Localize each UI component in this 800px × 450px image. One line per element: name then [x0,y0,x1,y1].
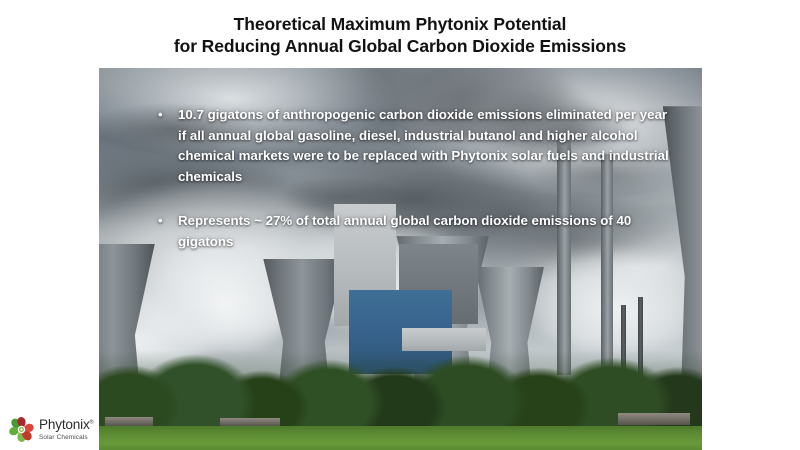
plant-block-white [402,328,486,351]
page-title: Theoretical Maximum Phytonix Potential f… [0,14,800,57]
village-roof-mid [220,418,280,426]
village-roof-left [105,417,153,426]
treeline [99,350,702,428]
bullet-text: Represents ~ 27% of total annual global … [178,211,677,252]
coal-power-plant-photo: • 10.7 gigatons of anthropogenic carbon … [99,68,702,450]
logo-name-text: Phytonix [39,417,90,432]
bullet-text: 10.7 gigatons of anthropogenic carbon di… [178,105,677,187]
bullet-list: • 10.7 gigatons of anthropogenic carbon … [157,105,677,252]
title-line-1: Theoretical Maximum Phytonix Potential [0,14,800,36]
title-line-2: for Reducing Annual Global Carbon Dioxid… [0,36,800,58]
slide-canvas: Theoretical Maximum Phytonix Potential f… [0,0,800,450]
bullet-marker-icon: • [157,105,178,126]
logo-tagline: Solar Chemicals [39,435,93,441]
list-item: • Represents ~ 27% of total annual globa… [157,211,677,252]
list-item: • 10.7 gigatons of anthropogenic carbon … [157,105,677,187]
bullet-marker-icon: • [157,211,178,232]
village-roof-right [618,413,690,425]
green-field [99,426,702,450]
phytonix-logo: Phytonix® Solar Chemicals [7,411,99,447]
registered-trademark-icon: ® [90,420,94,426]
logo-text-block: Phytonix® Solar Chemicals [39,417,93,441]
logo-name: Phytonix® [39,418,93,432]
phytonix-swirl-icon [7,415,36,444]
